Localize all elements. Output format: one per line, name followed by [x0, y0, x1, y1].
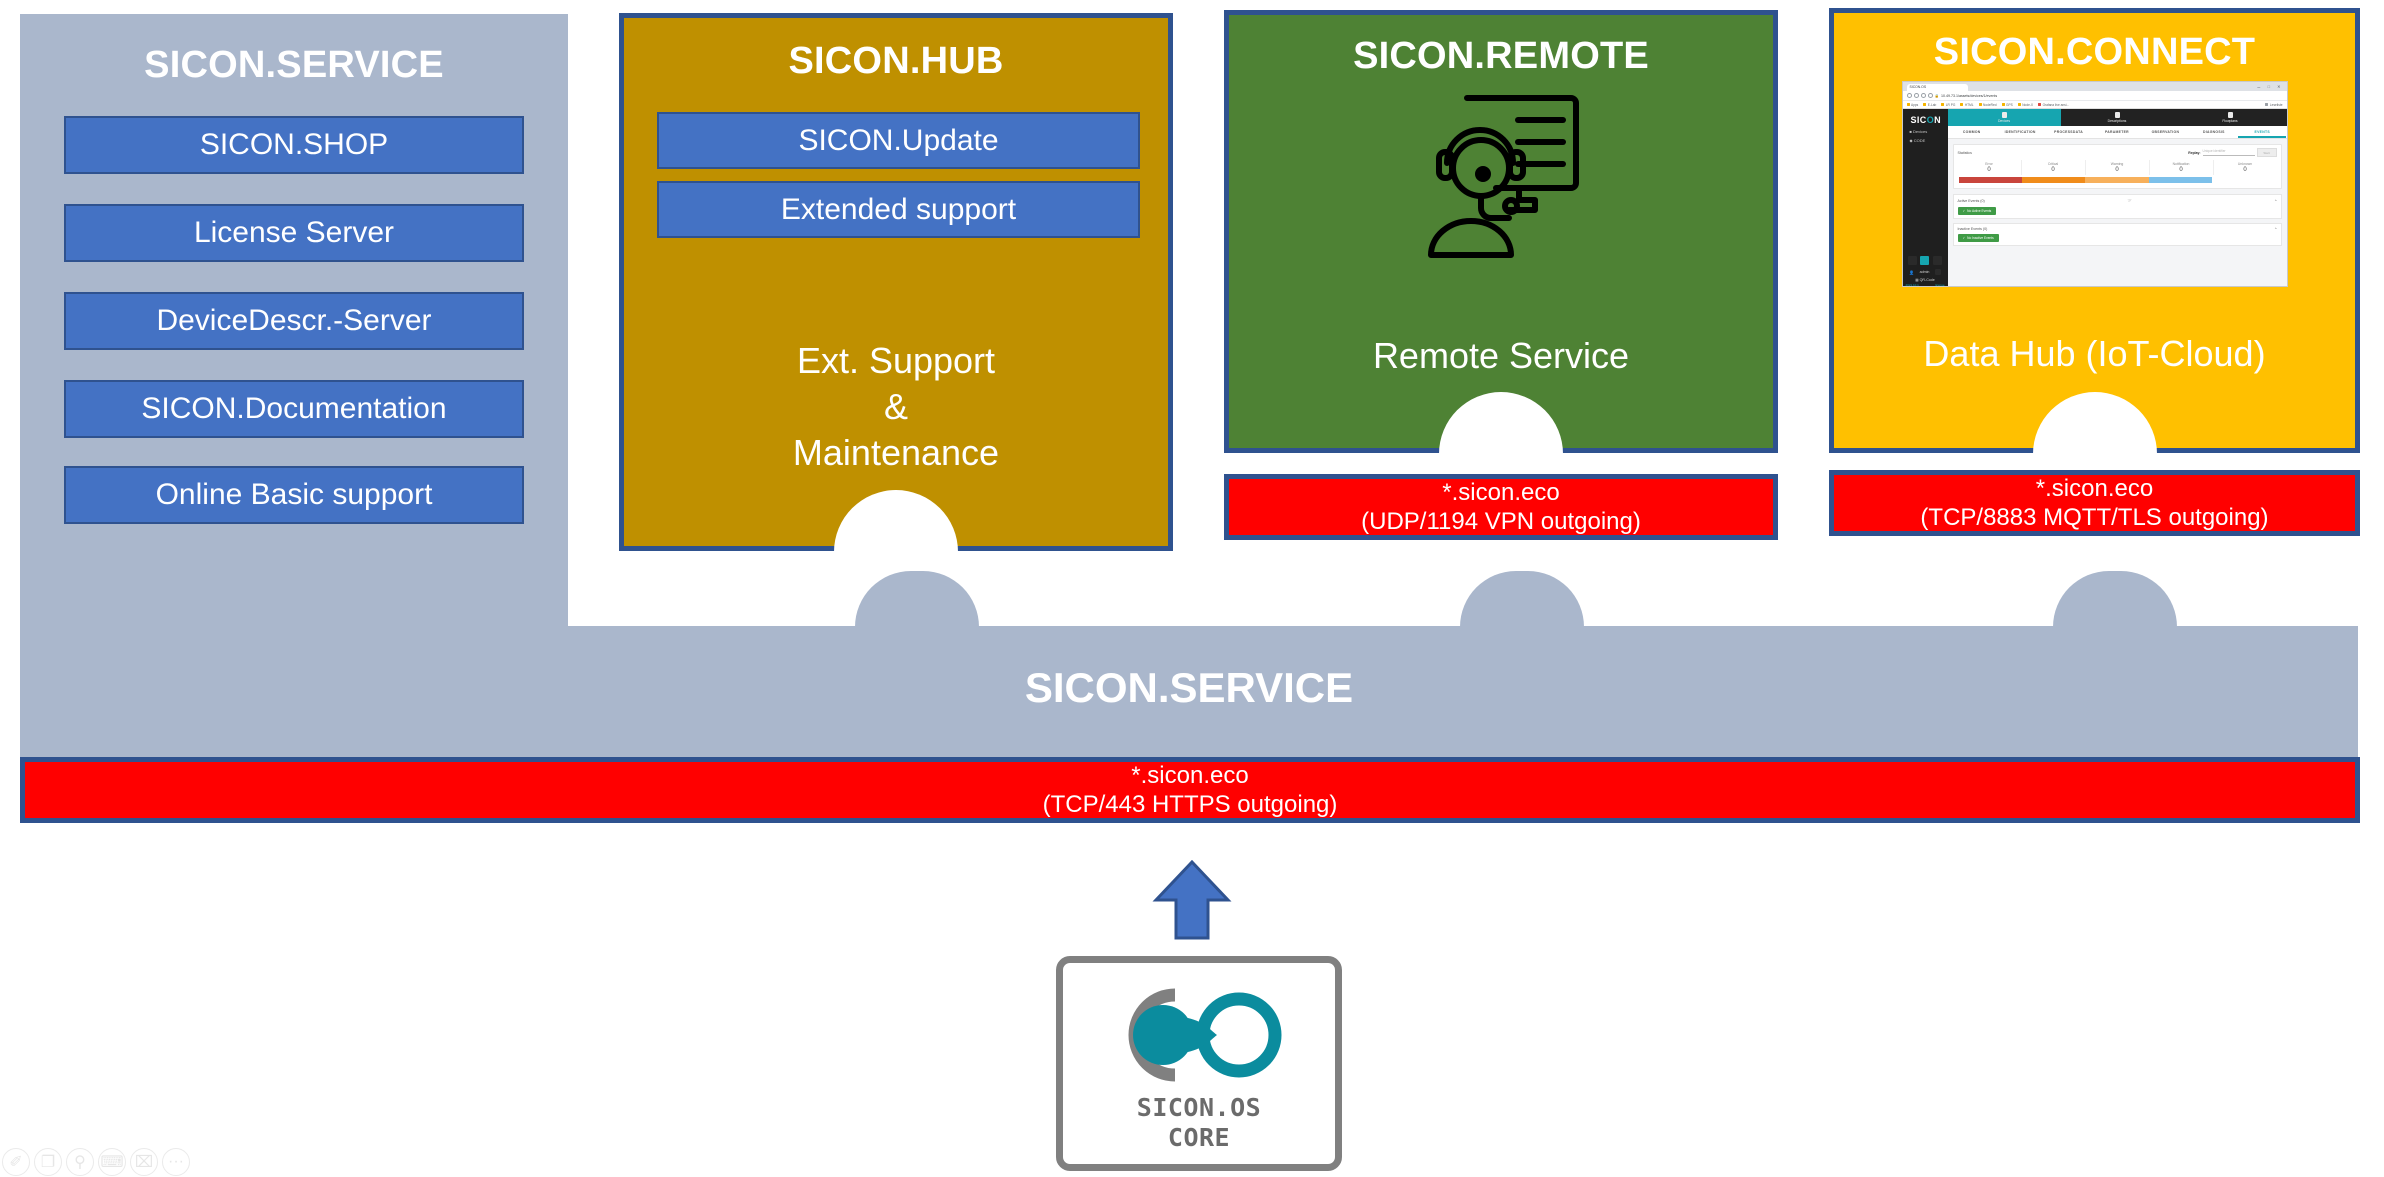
hub-item-extended-support[interactable]: Extended support — [657, 181, 1140, 238]
service-item-label: SICON.SHOP — [200, 128, 388, 162]
stat-warning: Warning 0 — [2086, 160, 2150, 175]
service-bar-bump-remote — [1460, 571, 1584, 627]
bookmark-item[interactable]: LR PG — [1941, 103, 1955, 107]
inactive-events-badge: ✓ No Inactive Events — [1958, 234, 1999, 242]
sub-tab-identification[interactable]: IDENTIFICATION — [1996, 126, 2044, 138]
app-top-tabs[interactable]: Devices Descriptions Flowplans — [1948, 109, 2287, 126]
statistics-card: Statistics Replay: Unique identifier Sta… — [1953, 144, 2282, 189]
app-sidebar: SICON ■ Devices ◆ CODE 👤 admin ▦ QR-Code — [1903, 109, 1948, 287]
service-item-label: License Server — [194, 216, 394, 250]
statistics-header: Statistics Replay: Unique identifier Sta… — [1954, 145, 2281, 160]
service-bar-title: SICON.SERVICE — [20, 664, 2358, 712]
severity-seg-critical — [2022, 177, 2085, 183]
home-icon[interactable] — [1928, 93, 1933, 98]
connect-port-host: *.sicon.eco — [2036, 474, 2153, 503]
severity-seg-error — [1959, 177, 2022, 183]
inactive-events-header[interactable]: Inactive Events (0) ^ — [1958, 227, 2277, 231]
hub-description-line2: & — [624, 384, 1168, 430]
browser-chrome: SICON.OS ⚊ □ ✕ — [1903, 82, 2287, 91]
folder-icon — [2018, 103, 2021, 106]
sub-tab-common[interactable]: COMMON — [1948, 126, 1996, 138]
service-port-box: *.sicon.eco (TCP/443 HTTPS outgoing) — [20, 757, 2360, 823]
bookmark-item[interactable]: HTML — [1960, 103, 1973, 107]
sub-tab-parameter[interactable]: PARAMETER — [2093, 126, 2141, 138]
more-icon[interactable]: ··· — [162, 1148, 190, 1176]
remote-port-detail: (UDP/1194 VPN outgoing) — [1361, 507, 1641, 536]
stat-value: 0 — [2022, 166, 2085, 173]
bookmark-item[interactable]: NodeRed — [1979, 103, 1997, 107]
bookmark-item[interactable]: Apps — [1907, 103, 1919, 107]
folder-icon — [2265, 103, 2268, 106]
headset-support-monitor-icon — [1411, 90, 1591, 260]
top-tab-label: Devices — [1998, 119, 2010, 123]
chevron-up-icon[interactable]: ^ — [2275, 199, 2277, 203]
severity-bar — [1959, 177, 2276, 183]
remote-port-host: *.sicon.eco — [1442, 478, 1559, 507]
app-sub-tabs[interactable]: COMMON IDENTIFICATION PROCESSDATA PARAME… — [1948, 126, 2287, 139]
stat-value: 0 — [1958, 166, 2021, 173]
sidebar-user-row[interactable]: 👤 admin — [1903, 267, 1948, 277]
back-icon[interactable] — [1907, 93, 1912, 98]
severity-seg-warning — [2085, 177, 2148, 183]
device-icon[interactable] — [1920, 256, 1929, 265]
severity-seg-unknown — [2212, 177, 2275, 183]
sub-tab-events[interactable]: EVENTS — [2238, 126, 2286, 138]
service-item-label: DeviceDescr.-Server — [156, 304, 431, 338]
folder-icon — [2038, 103, 2041, 106]
bookmark-item[interactable]: Node-X — [2018, 103, 2033, 107]
logout-icon[interactable] — [1935, 269, 1941, 275]
inactive-events-section[interactable]: Inactive Events (0) ^ ✓ No Inactive Even… — [1953, 223, 2282, 246]
connect-port-box: *.sicon.eco (TCP/8883 MQTT/TLS outgoing) — [1829, 470, 2360, 536]
camera-off-icon[interactable]: ⌧ — [130, 1148, 158, 1176]
reading-list-item[interactable]: Leseliste — [2265, 103, 2282, 107]
sidebar-version: 2021.10.1 license — [1903, 282, 1948, 287]
remote-panel: SICON.REMOTE Remote Service — [1224, 10, 1778, 453]
active-events-header[interactable]: Active Events (0) ☞ ^ — [1958, 198, 2277, 204]
core-label-line2: CORE — [1063, 1123, 1335, 1153]
hub-description: Ext. Support & Maintenance — [624, 338, 1168, 476]
service-bar: SICON.SERVICE — [20, 626, 2358, 757]
service-item-license-server[interactable]: License Server — [64, 204, 524, 262]
settings-icon[interactable] — [1933, 256, 1942, 265]
top-tab-flowplans[interactable]: Flowplans — [2174, 109, 2287, 126]
stat-notification: Notification 0 — [2150, 160, 2214, 175]
bookmark-item[interactable]: GPS — [2002, 103, 2013, 107]
stat-critical: Critical 0 — [2022, 160, 2086, 175]
browser-tab[interactable]: SICON.OS — [1907, 84, 1968, 91]
stat-value: 0 — [2214, 166, 2277, 173]
reload-icon[interactable] — [1921, 93, 1926, 98]
core-label-line1: SICON.OS — [1063, 1093, 1335, 1123]
connect-caption: Data Hub (IoT-Cloud) — [1834, 333, 2355, 375]
active-events-section[interactable]: Active Events (0) ☞ ^ ✓ No Active Events — [1953, 194, 2282, 219]
remote-panel-title: SICON.REMOTE — [1229, 35, 1773, 78]
lock-icon: 🔒 — [1935, 94, 1939, 98]
service-item-devicedescr-server[interactable]: DeviceDescr.-Server — [64, 292, 524, 350]
service-bar-bump-hub — [855, 571, 979, 627]
sidebar-item-code[interactable]: ◆ CODE — [1903, 134, 1948, 143]
bookmarks-bar[interactable]: Apps E-Lab LR PG HTML NodeRed GPS Node-X… — [1903, 101, 2287, 109]
mini-toolbar[interactable]: ✐ ❐ ⚲ ⌨ ⌧ ··· — [2, 1148, 190, 1176]
hub-item-update[interactable]: SICON.Update — [657, 112, 1140, 169]
connect-panel-title: SICON.CONNECT — [1834, 31, 2355, 74]
folder-icon — [2002, 103, 2005, 106]
folder-icon — [1907, 103, 1910, 106]
app-logo: SICON — [1903, 109, 1948, 125]
hub-description-line1: Ext. Support — [624, 338, 1168, 384]
replay-label: Replay: — [2188, 151, 2200, 155]
stat-error: Error 0 — [1958, 160, 2022, 175]
folder-icon — [1941, 103, 1944, 106]
hub-item-label: Extended support — [781, 193, 1016, 227]
service-item-label: SICON.Documentation — [141, 392, 446, 426]
connect-port-detail: (TCP/8883 MQTT/TLS outgoing) — [1920, 503, 2268, 532]
app-body: SICON ■ Devices ◆ CODE 👤 admin ▦ QR-Code — [1903, 109, 2287, 287]
replay-input[interactable]: Unique identifier — [2203, 149, 2255, 156]
statistics-title: Statistics — [1958, 151, 1972, 155]
replay-start-button[interactable]: Start — [2257, 148, 2277, 157]
inactive-events-label: Inactive Events (0) — [1958, 227, 1988, 231]
top-tab-label: Flowplans — [2222, 119, 2237, 123]
cursor-icon: ☞ — [2128, 198, 2132, 204]
sidebar-bottom: 👤 admin ▦ QR-Code 2021.10.1 license — [1903, 254, 1948, 287]
top-tab-label: Descriptions — [2108, 119, 2127, 123]
version-left: 2021.10.1 — [1906, 283, 1919, 287]
chevron-up-icon[interactable]: ^ — [2275, 227, 2277, 231]
statistics-row: Error 0 Critical 0 Warning 0 Notificat — [1954, 160, 2281, 175]
connect-app-screenshot: SICON.OS ⚊ □ ✕ 🔒 10.49.73.1/assets/devic… — [1902, 81, 2288, 287]
hub-description-line3: Maintenance — [624, 430, 1168, 476]
stat-unknown: Unknown 0 — [2214, 160, 2277, 175]
layers-icon[interactable]: ❐ — [34, 1148, 62, 1176]
core-device-label: SICON.OS CORE — [1063, 1093, 1335, 1152]
hub-panel: SICON.HUB SICON.Update Extended support … — [619, 13, 1173, 551]
service-item-online-basic-support[interactable]: Online Basic support — [64, 466, 524, 524]
descriptions-icon — [2115, 112, 2120, 118]
service-port-detail: (TCP/443 HTTPS outgoing) — [1043, 790, 1338, 819]
connect-connector-notch — [2033, 392, 2157, 454]
up-arrow-icon — [1152, 860, 1232, 940]
window-controls[interactable]: ⚊ □ ✕ — [2257, 84, 2284, 89]
devices-icon — [2002, 112, 2007, 118]
service-bar-bump-connect — [2053, 571, 2177, 627]
address-text[interactable]: 10.49.73.1/assets/devices/1/events — [1941, 94, 1997, 98]
bookmark-item[interactable]: E-Lab — [1923, 103, 1936, 107]
stat-value: 0 — [2086, 166, 2149, 173]
active-events-label: Active Events (0) — [1958, 199, 1985, 203]
top-tab-descriptions[interactable]: Descriptions — [2061, 109, 2174, 126]
sidebar-icon-row[interactable] — [1903, 254, 1948, 267]
service-item-documentation[interactable]: SICON.Documentation — [64, 380, 524, 438]
flowplans-icon — [2228, 112, 2233, 118]
stat-value: 0 — [2150, 166, 2213, 173]
remote-caption: Remote Service — [1229, 335, 1773, 377]
replay-control[interactable]: Replay: Unique identifier Start — [2188, 148, 2276, 157]
severity-seg-notification — [2149, 177, 2212, 183]
version-right[interactable]: license — [1935, 283, 1944, 287]
core-device-box: SICON.OS CORE — [1056, 956, 1342, 1171]
remote-connector-notch — [1439, 392, 1563, 454]
app-main: Devices Descriptions Flowplans COMMON ID… — [1948, 109, 2287, 287]
bookmark-item[interactable]: Grafana live ansi... — [2038, 103, 2069, 107]
sub-tab-diagnosis[interactable]: DIAGNOSIS — [2190, 126, 2238, 138]
sub-tab-observation[interactable]: OBSERVATION — [2141, 126, 2189, 138]
remote-port-box: *.sicon.eco (UDP/1194 VPN outgoing) — [1224, 474, 1778, 540]
service-panel-title: SICON.SERVICE — [20, 44, 568, 87]
sub-tab-processdata[interactable]: PROCESSDATA — [2044, 126, 2092, 138]
service-panel: SICON.SERVICE SICON.SHOP License Server … — [20, 14, 568, 626]
browser-address-bar[interactable]: 🔒 10.49.73.1/assets/devices/1/events — [1903, 91, 2287, 101]
sidebar-item-devices[interactable]: ■ Devices — [1903, 125, 1948, 134]
sicon-os-infinity-logo — [1105, 977, 1293, 1093]
top-tab-devices[interactable]: Devices — [1948, 109, 2061, 126]
keyboard-icon[interactable]: ⌨ — [98, 1148, 126, 1176]
grid-icon[interactable] — [1908, 256, 1917, 265]
hub-panel-title: SICON.HUB — [624, 40, 1168, 83]
folder-icon — [1923, 103, 1926, 106]
magnifier-icon[interactable]: ⚲ — [66, 1148, 94, 1176]
forward-icon[interactable] — [1914, 93, 1919, 98]
hub-connector-notch — [834, 490, 958, 552]
connect-panel: SICON.CONNECT SICON.OS ⚊ □ ✕ 🔒 10.49.73.… — [1829, 8, 2360, 453]
pen-icon[interactable]: ✐ — [2, 1148, 30, 1176]
service-item-shop[interactable]: SICON.SHOP — [64, 116, 524, 174]
sidebar-username: admin — [1920, 270, 1930, 274]
user-icon: 👤 — [1909, 270, 1914, 275]
folder-icon — [1979, 103, 1982, 106]
hub-item-label: SICON.Update — [798, 124, 998, 158]
active-events-badge: ✓ No Active Events — [1958, 207, 1997, 215]
service-port-host: *.sicon.eco — [1131, 761, 1248, 790]
folder-icon — [1960, 103, 1963, 106]
service-item-label: Online Basic support — [156, 478, 433, 512]
